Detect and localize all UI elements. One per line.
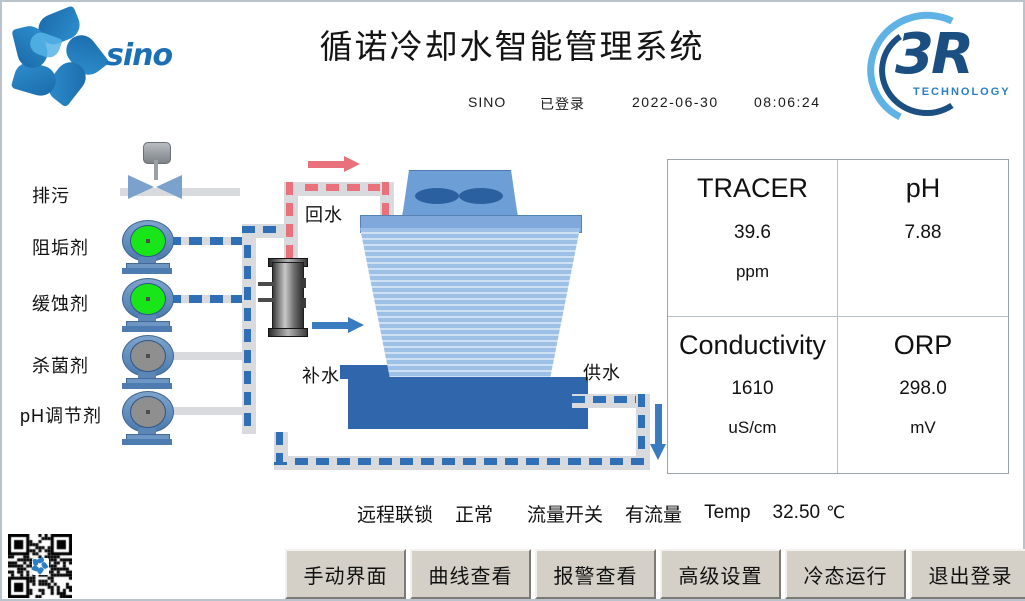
page-title: 循诺冷却水智能管理系统 bbox=[242, 20, 782, 68]
return-water-label: 回水 bbox=[305, 201, 343, 227]
trend-view-button[interactable]: 曲线查看 bbox=[410, 549, 531, 599]
button-bar: 手动界面 曲线查看 报警查看 高级设置 冷态运行 退出登录 bbox=[285, 549, 1025, 599]
pump-biocide[interactable] bbox=[118, 335, 176, 389]
sino-logo: sino bbox=[10, 10, 210, 102]
dosing-header-riser bbox=[242, 224, 256, 434]
conductivity-value: 1610 bbox=[731, 378, 773, 400]
system-date: 2022-06-30 bbox=[632, 94, 719, 110]
main-loop-left-riser bbox=[274, 432, 288, 462]
dosing-label-biocide: 杀菌剂 bbox=[32, 352, 89, 378]
sino-wordmark: sino bbox=[106, 38, 172, 73]
temp-value: 32.50 bbox=[773, 502, 821, 524]
tracer-value: 39.6 bbox=[734, 222, 771, 244]
tower-fan-housing bbox=[402, 170, 518, 218]
vessel-bottom-cap bbox=[268, 328, 308, 337]
measurement-cell-conductivity: Conductivity 1610 uS/cm bbox=[668, 317, 838, 474]
hmi-screen: sino 循诺冷却水智能管理系统 SINO 已登录 2022-06-30 08:… bbox=[0, 0, 1025, 601]
dosing-riser-dashes bbox=[244, 224, 251, 434]
flow-switch-label: 流量开关 bbox=[527, 500, 603, 527]
tower-basin bbox=[348, 377, 588, 429]
supply-flow-arrow bbox=[653, 404, 663, 460]
dosing-label-antiscalant: 阻垢剂 bbox=[32, 234, 89, 260]
pump-corrosion-inhibitor[interactable] bbox=[118, 278, 176, 332]
measurement-cell-orp: ORP 298.0 mV bbox=[838, 317, 1008, 474]
orp-value: 298.0 bbox=[899, 378, 947, 400]
login-status: 已登录 bbox=[540, 94, 585, 114]
qr-center-logo-icon bbox=[32, 558, 49, 575]
tracer-name: TRACER bbox=[697, 174, 808, 204]
status-bar: 远程联锁 正常 流量开关 有流量 Temp 32.50 ℃ bbox=[357, 499, 845, 527]
fan-blade-left bbox=[415, 188, 459, 204]
vessel-shell bbox=[272, 262, 304, 334]
fan-blade-right bbox=[459, 188, 503, 204]
vessel-port-left-lower bbox=[258, 298, 274, 302]
measurement-panel: TRACER 39.6 ppm pH 7.88 Conductivity 161… bbox=[667, 159, 1009, 474]
measurement-cell-tracer: TRACER 39.6 ppm bbox=[668, 160, 838, 317]
return-flow-arrow bbox=[308, 159, 360, 169]
temp-label: Temp bbox=[704, 502, 750, 524]
logout-button[interactable]: 退出登录 bbox=[910, 549, 1025, 599]
current-user: SINO bbox=[468, 94, 506, 110]
remote-interlock-value: 正常 bbox=[455, 500, 493, 527]
measurement-cell-ph: pH 7.88 bbox=[838, 160, 1008, 317]
orp-name: ORP bbox=[894, 331, 953, 361]
makeup-water-label: 补水 bbox=[302, 362, 340, 388]
remote-interlock-label: 远程联锁 bbox=[357, 500, 433, 527]
ph-name: pH bbox=[906, 174, 941, 204]
header: sino 循诺冷却水智能管理系统 SINO 已登录 2022-06-30 08:… bbox=[2, 2, 1023, 122]
orp-unit: mV bbox=[910, 418, 936, 438]
sino-flower-icon bbox=[12, 12, 108, 100]
main-loop-left-dashes bbox=[276, 432, 283, 462]
main-loop-bottom-pipe bbox=[274, 456, 650, 470]
conductivity-name: Conductivity bbox=[679, 331, 826, 361]
dosing-label-ph-adjuster: pH调节剂 bbox=[20, 402, 102, 428]
return-pipe-left-dashes bbox=[286, 182, 293, 264]
system-time: 08:06:24 bbox=[754, 94, 821, 110]
valve-body-right bbox=[156, 175, 182, 199]
3r-wordmark: 3R bbox=[895, 22, 971, 87]
supply-water-label: 供水 bbox=[583, 359, 621, 385]
pump-ph-adjuster[interactable] bbox=[118, 391, 176, 445]
dosing-header-top-dashes bbox=[242, 226, 290, 233]
3r-tagline: TECHNOLOGY bbox=[913, 86, 1011, 98]
dosing-label-corrosion-inhibitor: 缓蚀剂 bbox=[32, 290, 89, 316]
qr-code bbox=[8, 534, 72, 598]
flow-switch-value: 有流量 bbox=[625, 500, 682, 527]
advanced-settings-button[interactable]: 高级设置 bbox=[660, 549, 781, 599]
manual-interface-button[interactable]: 手动界面 bbox=[285, 549, 406, 599]
dosing-header-top bbox=[242, 224, 290, 238]
vessel-port-right-lower bbox=[301, 298, 306, 308]
ph-value: 7.88 bbox=[905, 222, 942, 244]
main-loop-dashes bbox=[274, 458, 650, 465]
3r-technology-logo: 3R TECHNOLOGY bbox=[865, 6, 1017, 118]
dosing-label-blowdown: 排污 bbox=[32, 182, 70, 208]
return-water-pipe-left bbox=[284, 182, 298, 264]
tower-fill-body bbox=[360, 228, 580, 383]
temp-unit: ℃ bbox=[826, 503, 845, 523]
vessel-port-left-upper bbox=[258, 282, 274, 286]
sensor-analyzer-icon[interactable] bbox=[268, 254, 306, 342]
conductivity-unit: uS/cm bbox=[728, 418, 776, 438]
cold-start-button[interactable]: 冷态运行 bbox=[785, 549, 906, 599]
vessel-port-right-upper bbox=[301, 278, 306, 288]
tracer-unit: ppm bbox=[736, 262, 769, 282]
pump-antiscalant[interactable] bbox=[118, 220, 176, 274]
alarm-view-button[interactable]: 报警查看 bbox=[535, 549, 656, 599]
valve-body-left bbox=[128, 175, 154, 199]
blowdown-valve-icon[interactable] bbox=[124, 142, 186, 200]
